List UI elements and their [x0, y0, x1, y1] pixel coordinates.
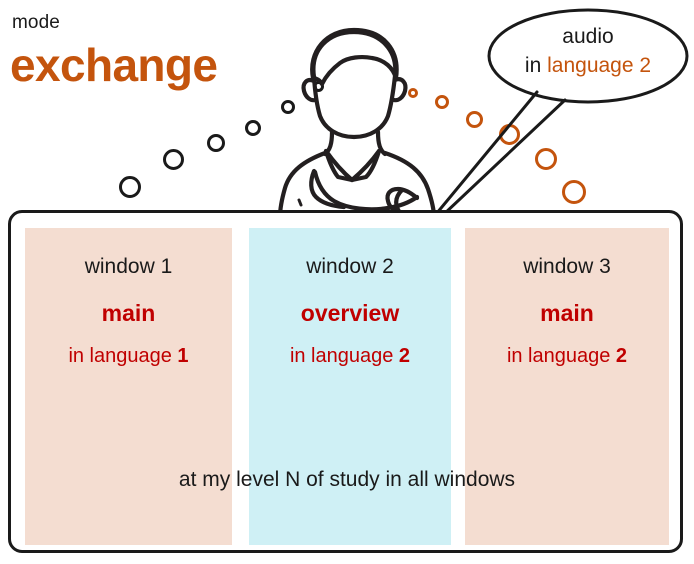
decorative-dot-black-2 [163, 149, 184, 170]
decorative-dot-black-1 [119, 176, 141, 198]
decorative-dot-orange-5 [535, 148, 557, 170]
windows-panels: window 1 main in language 1 window 2 ove… [25, 228, 669, 545]
window-panel-3-language-prefix: in language [507, 345, 616, 367]
window-panel-3-title: window 3 [465, 255, 669, 279]
mode-label: mode [12, 12, 60, 34]
person-illustration [252, 22, 457, 217]
window-panel-3-language-number: 2 [616, 345, 627, 367]
decorative-dot-black-3 [207, 134, 225, 152]
window-panel-1-language-number: 1 [177, 345, 188, 367]
speech-balloon [487, 6, 689, 106]
diagram-canvas: mode exchange [0, 0, 694, 564]
window-panel-3-language: in language 2 [465, 345, 669, 368]
decorative-dot-orange-3 [466, 111, 483, 128]
window-panel-2[interactable]: window 2 overview in language 2 [249, 228, 451, 545]
window-panel-2-kind: overview [249, 300, 451, 327]
decorative-dot-orange-6 [562, 180, 586, 204]
window-panel-2-title: window 2 [249, 255, 451, 279]
window-panel-1-title: window 1 [25, 255, 232, 279]
window-panel-1-kind: main [25, 300, 232, 327]
window-panel-2-language-number: 2 [399, 345, 410, 367]
window-panel-1[interactable]: window 1 main in language 1 [25, 228, 232, 545]
window-panel-1-language-prefix: in language [68, 345, 177, 367]
mode-title: exchange [10, 38, 217, 92]
window-panel-1-language: in language 1 [25, 345, 232, 368]
window-panel-3[interactable]: window 3 main in language 2 [465, 228, 669, 545]
window-panel-2-language: in language 2 [249, 345, 451, 368]
window-panel-2-language-prefix: in language [290, 345, 399, 367]
window-panel-3-kind: main [465, 300, 669, 327]
